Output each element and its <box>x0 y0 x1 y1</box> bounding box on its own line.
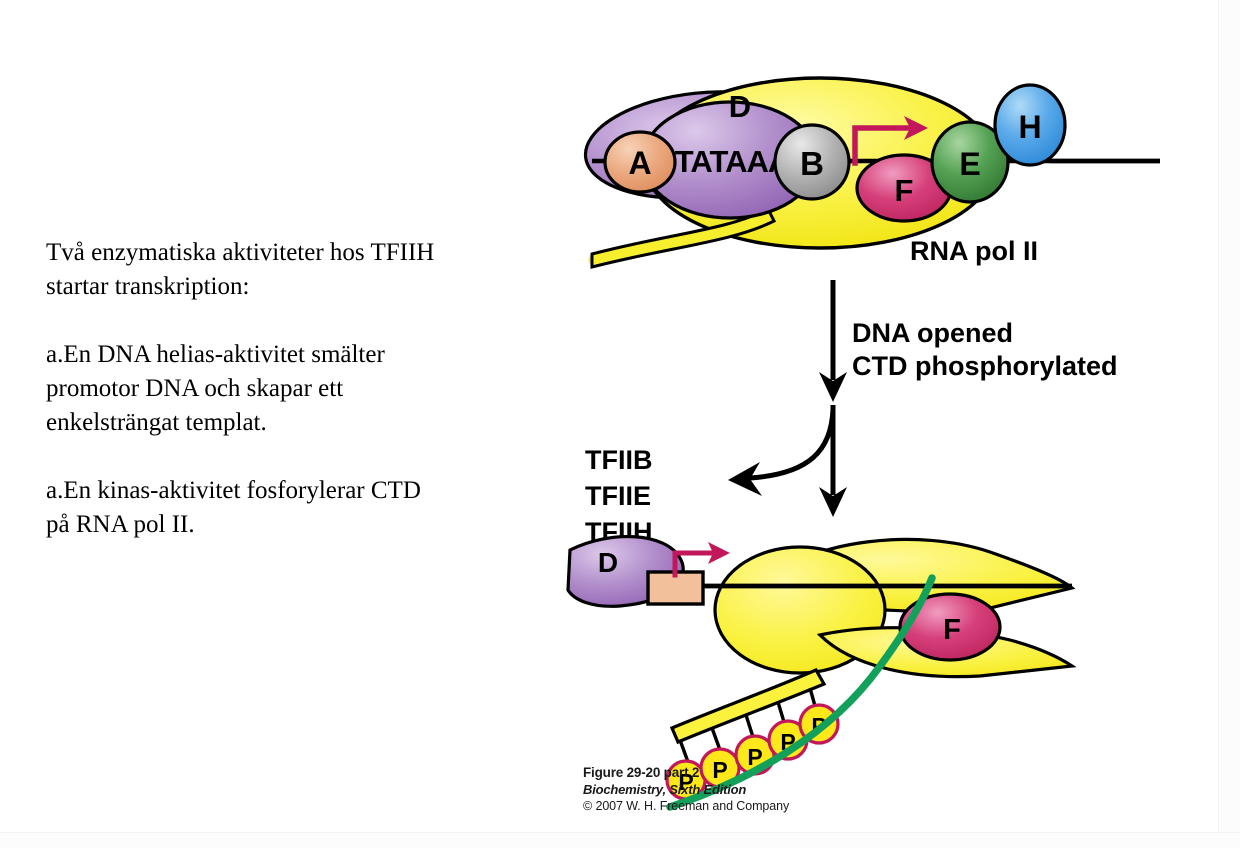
subunit-d-label: D <box>729 89 751 124</box>
transition-group: DNA opened CTD phosphorylated TFIIB TFII… <box>585 280 1118 547</box>
body-text-block: Två enzymatiska aktiviteter hos TFIIH st… <box>46 236 516 542</box>
subunit-e-label: E <box>959 146 980 182</box>
subunit-d-label-bottom: D <box>598 547 618 578</box>
figure-caption: Figure 29-20 part 2 Biochemistry, Sixth … <box>583 764 789 815</box>
text-line-5: enkelsträngat templat. <box>46 406 516 440</box>
subunit-a-label: A <box>628 145 651 181</box>
tata-box-label: TATAAA <box>675 144 790 179</box>
slide-right-edge <box>1218 0 1240 848</box>
phosphate-linker-3 <box>746 715 753 737</box>
released-factor-tfiie: TFIIE <box>585 481 651 511</box>
factor-release-arrow <box>750 410 833 478</box>
text-gap-1 <box>46 304 516 338</box>
text-line-4: promotor DNA och skapar ett <box>46 372 516 406</box>
text-line-7: på RNA pol II. <box>46 508 516 542</box>
caption-copyright: © 2007 W. H. Freeman and Company <box>583 798 789 815</box>
phosphate-linker-4 <box>778 702 784 722</box>
subunit-f-label-bottom: F <box>943 614 961 646</box>
phosphate-linker-1 <box>680 740 688 762</box>
transition-step-line-1: DNA opened <box>852 318 1013 348</box>
phosphate-linker-5 <box>810 688 815 706</box>
subunit-h-label: H <box>1018 109 1041 145</box>
text-line-1: Två enzymatiska aktiviteter hos TFIIH <box>46 236 516 270</box>
top-transcription-complex: TATAAA D A B F E <box>580 78 1160 267</box>
transition-step-line-2: CTD phosphorylated <box>852 351 1118 381</box>
text-line-3: a.En DNA helias-aktivitet smälter <box>46 338 516 372</box>
caption-figure-number: Figure 29-20 part 2 <box>583 764 789 781</box>
slide-canvas: Två enzymatiska aktiviteter hos TFIIH st… <box>0 0 1240 848</box>
figure-illustration: TATAAA D A B F E <box>560 50 1180 830</box>
subunit-b-label: B <box>800 145 824 182</box>
released-factor-tfiib: TFIIB <box>585 445 653 475</box>
caption-book-title: Biochemistry, Sixth Edition <box>583 781 789 798</box>
text-line-2: startar transkription: <box>46 270 516 304</box>
text-gap-2 <box>46 440 516 474</box>
slide-bottom-edge <box>0 832 1240 848</box>
rna-pol-ii-label: RNA pol II <box>910 236 1038 266</box>
subunit-f-label: F <box>895 173 914 208</box>
text-line-6: a.En kinas-aktivitet fosforylerar CTD <box>46 474 516 508</box>
phosphate-linker-2 <box>712 728 720 750</box>
